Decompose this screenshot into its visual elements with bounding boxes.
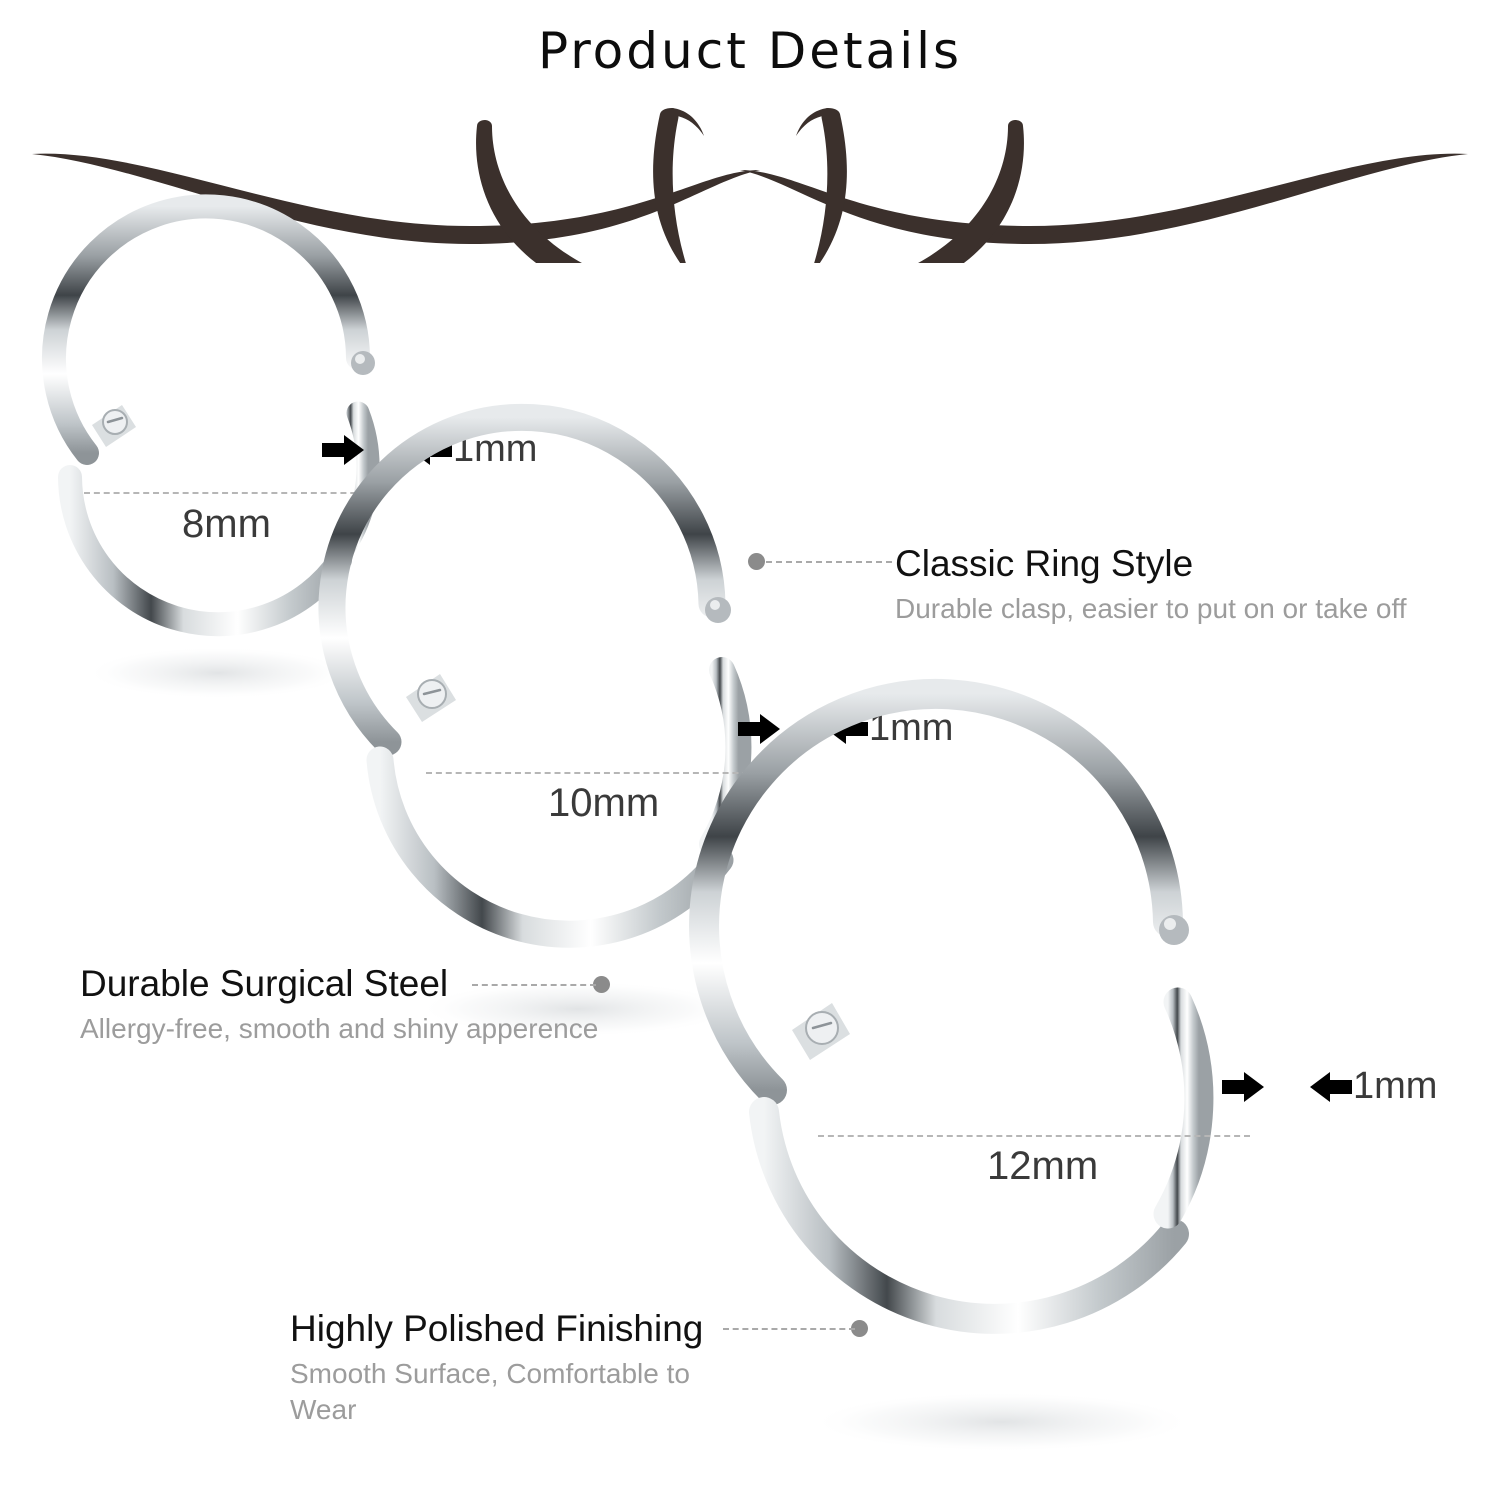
- ball-end-icon: [705, 597, 731, 623]
- callout-subtitle-durable-surgical-steel: Allergy-free, smooth and shiny apperence: [80, 1011, 598, 1047]
- callout-durable-surgical-steel: Durable Surgical Steel Allergy-free, smo…: [80, 963, 598, 1047]
- callout-subtitle-highly-polished-finishing: Smooth Surface, Comfortable to Wear: [290, 1356, 760, 1428]
- diameter-label-10mm: 10mm: [548, 783, 659, 823]
- hinge-screw-icon: [792, 1003, 850, 1060]
- diameter-line-8mm: [84, 492, 376, 494]
- hinge-screw-icon: [92, 405, 136, 447]
- callout-title-classic-ring-style: Classic Ring Style: [895, 543, 1407, 584]
- diameter-line-12mm: [818, 1135, 1250, 1137]
- callout-highly-polished-finishing: Highly Polished Finishing Smooth Surface…: [290, 1308, 760, 1428]
- diameter-line-10mm: [426, 772, 778, 774]
- callout-title-durable-surgical-steel: Durable Surgical Steel: [80, 963, 598, 1004]
- thickness-arrows-12mm: [1222, 1065, 1352, 1109]
- thickness-label-12mm: 1mm: [1353, 1067, 1437, 1105]
- diameter-label-12mm: 12mm: [987, 1146, 1098, 1186]
- page-title: Product Details: [0, 26, 1500, 76]
- ball-end-icon: [1159, 915, 1189, 945]
- leader-dot-classic-ring-style: [748, 553, 765, 570]
- ring-12mm: [740, 790, 1320, 1450]
- callout-title-highly-polished-finishing: Highly Polished Finishing: [290, 1308, 760, 1349]
- product-details-infographic: Product Details: [0, 0, 1500, 1500]
- flourish-divider-icon: [0, 98, 1500, 263]
- hinge-screw-icon: [406, 674, 456, 722]
- leader-line-classic-ring-style: [766, 561, 892, 563]
- diameter-label-8mm: 8mm: [182, 504, 271, 544]
- ball-end-icon: [351, 351, 375, 375]
- callout-classic-ring-style: Classic Ring Style Durable clasp, easier…: [895, 543, 1407, 627]
- callout-subtitle-classic-ring-style: Durable clasp, easier to put on or take …: [895, 591, 1407, 627]
